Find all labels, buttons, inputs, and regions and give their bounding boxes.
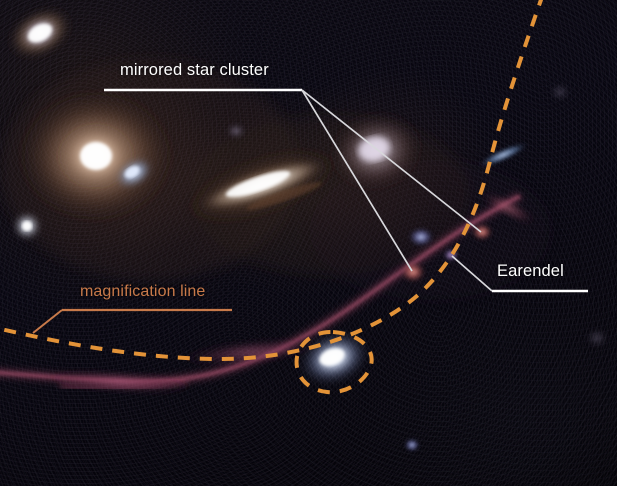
magnification-line-label: magnification line: [80, 283, 205, 301]
earendel-label: Earendel: [497, 262, 564, 281]
mirrored-star-cluster-leader-lower: [302, 90, 412, 271]
magnification-line-curve: [0, 0, 543, 359]
mirrored-star-cluster-label: mirrored star cluster: [120, 61, 269, 80]
astronomical-image-viewer: mirrored star cluster Earendel magnifica…: [0, 0, 617, 486]
earendel-leader: [452, 256, 492, 291]
magnification-line-leader: [33, 310, 62, 333]
annotation-layer: [0, 0, 617, 486]
mirrored-star-cluster-leader-upper: [302, 90, 481, 232]
mirrored-star-cluster-callout: [104, 90, 481, 271]
magnification-line-callout: [33, 310, 232, 333]
